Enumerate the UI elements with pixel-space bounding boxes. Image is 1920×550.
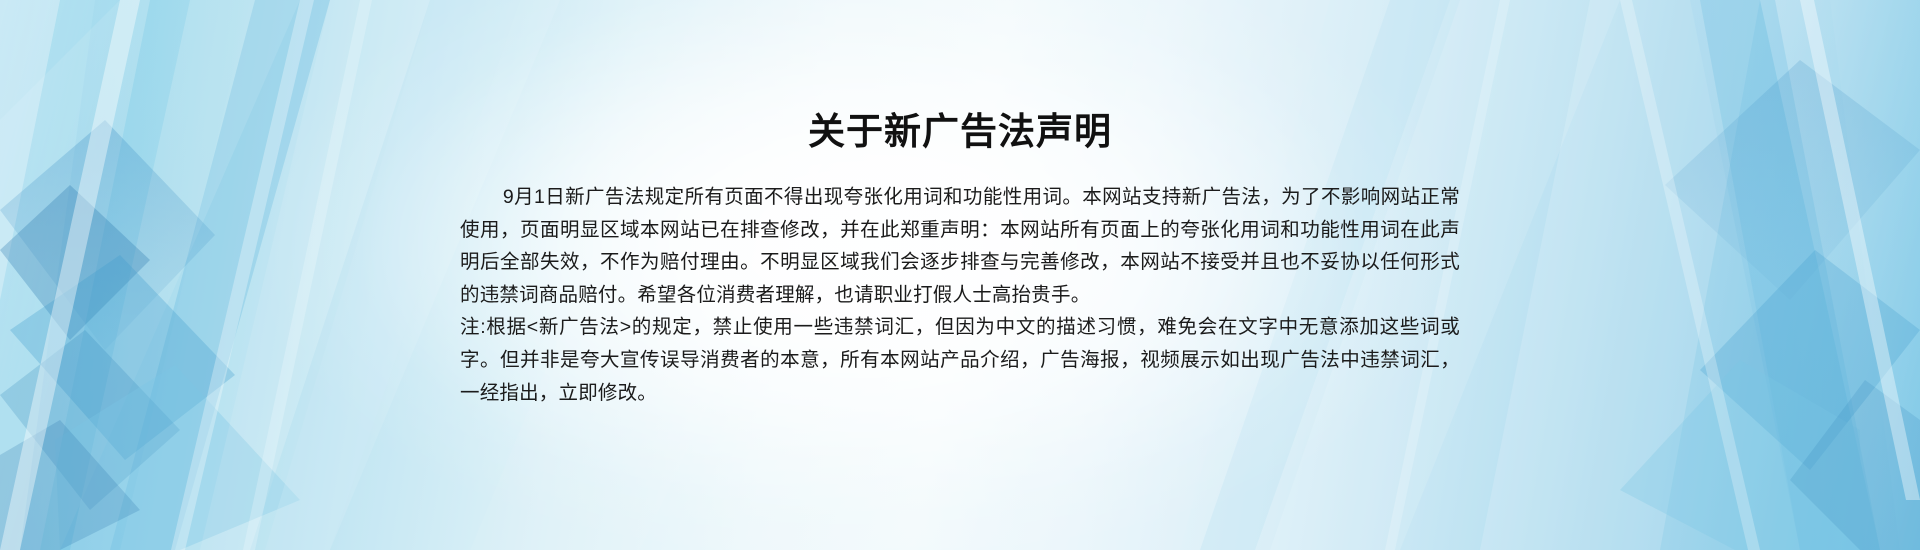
statement-content: 关于新广告法声明 9月1日新广告法规定所有页面不得出现夸张化用词和功能性用词。本… <box>0 0 1920 550</box>
statement-paragraph-note: 注:根据<新广告法>的规定，禁止使用一些违禁词汇，但因为中文的描述习惯，难免会在… <box>460 311 1460 409</box>
page-title: 关于新广告法声明 <box>0 110 1920 154</box>
statement-paragraph-main: 9月1日新广告法规定所有页面不得出现夸张化用词和功能性用词。本网站支持新广告法，… <box>460 181 1460 311</box>
advertising-law-statement-banner: 关于新广告法声明 9月1日新广告法规定所有页面不得出现夸张化用词和功能性用词。本… <box>0 0 1920 550</box>
statement-body: 9月1日新广告法规定所有页面不得出现夸张化用词和功能性用词。本网站支持新广告法，… <box>460 181 1460 409</box>
